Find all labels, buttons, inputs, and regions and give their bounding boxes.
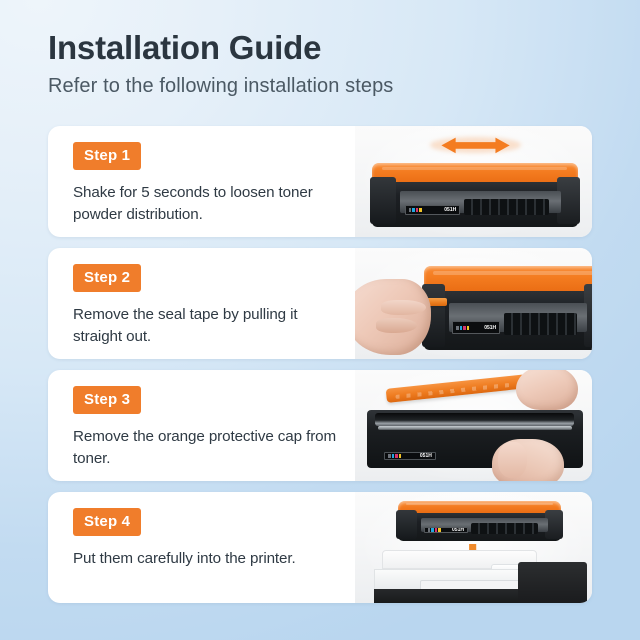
toner-cartridge: 051H	[372, 163, 578, 227]
cartridge-label: 051H	[452, 321, 500, 334]
cartridge-label-color-dots	[428, 528, 441, 532]
step-3-badge: Step 3	[73, 386, 141, 414]
cartridge-vents	[471, 523, 538, 533]
double-horizontal-arrow-icon	[440, 136, 511, 155]
step-4-badge: Step 4	[73, 508, 141, 536]
steps-list: Step 1 Shake for 5 seconds to loosen ton…	[48, 126, 592, 614]
hand-holding-cartridge	[492, 439, 563, 481]
toner-cartridge: 051H	[398, 501, 562, 541]
step-3-image: 051H	[355, 370, 592, 481]
step-card-4: Step 4 Put them carefully into the print…	[48, 492, 592, 603]
step-3-description: Remove the orange protective cap from to…	[73, 426, 341, 469]
cartridge-label: 051H	[384, 452, 436, 461]
cartridge-label: 051H	[424, 527, 468, 533]
cartridge-label-color-dots	[456, 326, 469, 330]
step-4-image: 051H	[355, 492, 592, 603]
cartridge-end-cap-left	[370, 177, 397, 225]
cartridge-vents	[504, 313, 577, 335]
printer-control-panel[interactable]	[518, 562, 587, 603]
page-header: Installation Guide Refer to the followin…	[48, 30, 608, 98]
step-2-badge: Step 2	[73, 264, 141, 292]
step-4-description: Put them carefully into the printer.	[73, 548, 341, 570]
page-subtitle: Refer to the following installation step…	[48, 74, 608, 98]
step-1-description: Shake for 5 seconds to loosen toner powd…	[73, 182, 341, 225]
installation-guide-page: Installation Guide Refer to the followin…	[0, 0, 640, 640]
cartridge-drum-opening	[375, 413, 573, 426]
step-3-text: Step 3 Remove the orange protective cap …	[48, 370, 355, 481]
toner-cartridge: 051H	[424, 266, 592, 350]
cartridge-label: 051H	[405, 205, 461, 215]
step-card-2: Step 2 Remove the seal tape by pulling i…	[48, 248, 592, 359]
step-card-1: Step 1 Shake for 5 seconds to loosen ton…	[48, 126, 592, 237]
page-title: Installation Guide	[48, 30, 608, 67]
cartridge-label-color-dots	[388, 454, 401, 458]
step-1-image: 051H	[355, 126, 592, 237]
step-1-text: Step 1 Shake for 5 seconds to loosen ton…	[48, 126, 355, 237]
hand-pulling-tape	[355, 279, 431, 354]
step-card-3: Step 3 Remove the orange protective cap …	[48, 370, 592, 481]
step-1-badge: Step 1	[73, 142, 141, 170]
step-4-text: Step 4 Put them carefully into the print…	[48, 492, 355, 603]
cartridge-label-color-dots	[409, 208, 422, 212]
orange-protective-cap	[385, 373, 537, 403]
cartridge-model-text: 051H	[452, 527, 464, 533]
hand-lifting-cap	[516, 370, 578, 410]
cartridge-end-cap-left	[396, 510, 417, 540]
step-2-image: 051H	[355, 248, 592, 359]
cartridge-model-text: 051H	[444, 207, 456, 213]
cartridge-roller	[378, 426, 572, 430]
printer	[374, 550, 583, 603]
step-2-text: Step 2 Remove the seal tape by pulling i…	[48, 248, 355, 359]
step-2-description: Remove the seal tape by pulling it strai…	[73, 304, 341, 347]
cartridge-model-text: 051H	[420, 453, 432, 459]
cartridge-model-text: 051H	[484, 325, 496, 331]
cartridge-vents	[464, 199, 549, 216]
